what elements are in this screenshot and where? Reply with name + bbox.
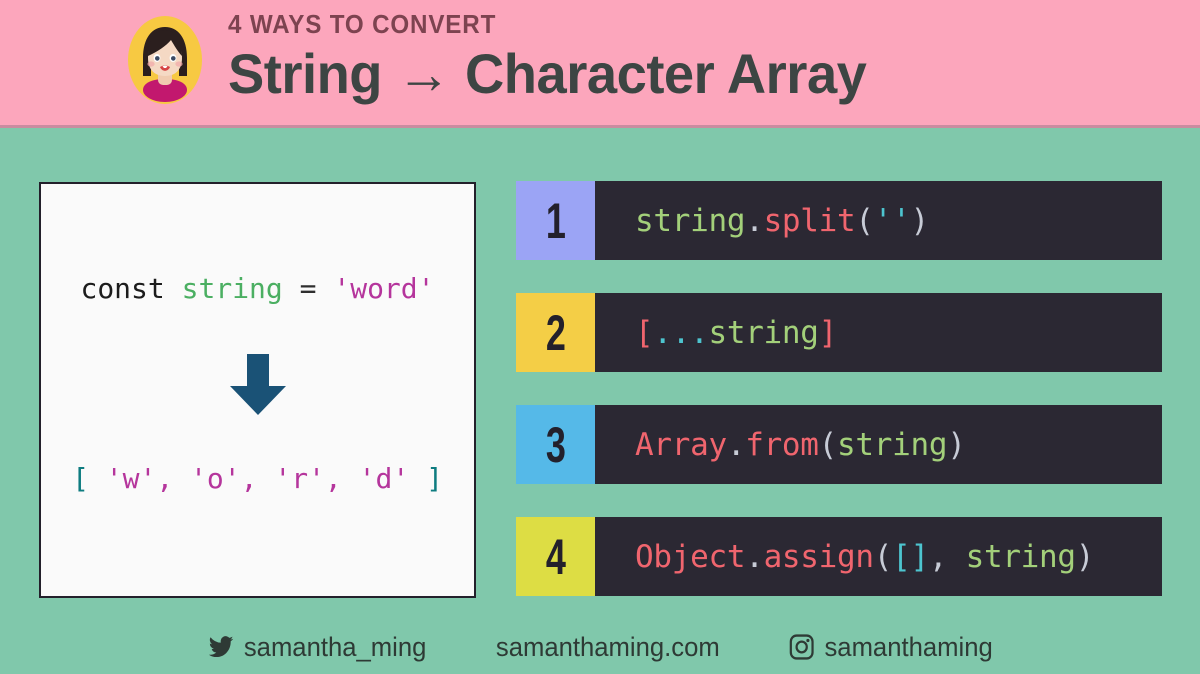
footer-instagram[interactable]: samanthaming: [789, 632, 993, 662]
token-dot: .: [745, 539, 763, 575]
token-from: from: [745, 427, 818, 463]
variable-string: string: [182, 272, 283, 305]
header-kicker: 4 WAYS TO CONVERT: [228, 8, 840, 40]
method-code-3: Array.from(string): [595, 405, 1162, 484]
token-empty-array: []: [892, 539, 929, 575]
header-banner: 4 WAYS TO CONVERT String → Character Arr…: [0, 0, 1200, 125]
result-line: [ 'w', 'o', 'r', 'd' ]: [72, 462, 443, 496]
method-number-4: 4: [545, 531, 565, 583]
token-empty-string: '': [874, 203, 911, 239]
token-object: Object: [635, 539, 745, 575]
token-paren-open: (: [874, 539, 892, 575]
avatar: [126, 14, 204, 106]
keyword-const: const: [80, 272, 164, 305]
method-number-1: 1: [545, 195, 565, 247]
token-spread: ...: [653, 315, 708, 351]
close-bracket: ]: [426, 462, 443, 495]
open-bracket: [: [72, 462, 89, 495]
space: [165, 272, 182, 305]
result-items: 'w', 'o', 'r', 'd': [89, 462, 426, 495]
infographic-canvas: 4 WAYS TO CONVERT String → Character Arr…: [0, 0, 1200, 674]
token-paren-open: (: [819, 427, 837, 463]
method-badge-3: 3: [516, 405, 595, 484]
methods-list: 1 string.split('') 2 [...string] 3 Array…: [516, 181, 1162, 596]
method-badge-2: 2: [516, 293, 595, 372]
token-split: split: [764, 203, 856, 239]
header-text-group: 4 WAYS TO CONVERT String → Character Arr…: [228, 8, 886, 108]
token-dot: .: [745, 203, 763, 239]
token-string: string: [635, 203, 745, 239]
example-panel: const string = 'word' [ 'w', 'o', 'r', '…: [39, 182, 476, 598]
method-block-1[interactable]: 1 string.split(''): [516, 181, 1162, 260]
footer-twitter-label: samantha_ming: [243, 632, 426, 662]
token-array: Array: [635, 427, 727, 463]
token-bracket-open: [: [635, 315, 653, 351]
method-code-2: [...string]: [595, 293, 1162, 372]
down-arrow-icon: [229, 354, 287, 416]
token-string: string: [966, 539, 1076, 575]
declaration-line: const string = 'word': [80, 272, 434, 306]
token-dot: .: [727, 427, 745, 463]
footer-website-label: samanthaming.com: [496, 632, 720, 662]
footer-instagram-label: samanthaming: [825, 632, 993, 662]
token-bracket-close: ]: [819, 315, 837, 351]
footer-twitter[interactable]: samantha_ming: [207, 632, 426, 662]
footer-website[interactable]: samanthaming.com: [496, 632, 720, 662]
token-paren-close: ): [947, 427, 965, 463]
token-string: string: [837, 427, 947, 463]
string-literal-word: 'word': [333, 272, 434, 305]
assignment-operator: =: [283, 272, 334, 305]
twitter-icon: [207, 633, 234, 661]
instagram-icon: [789, 633, 816, 661]
token-comma: ,: [929, 539, 966, 575]
method-block-3[interactable]: 3 Array.from(string): [516, 405, 1162, 484]
method-block-4[interactable]: 4 Object.assign([], string): [516, 517, 1162, 596]
method-number-2: 2: [545, 307, 565, 359]
method-code-4: Object.assign([], string): [595, 517, 1162, 596]
footer: samantha_ming samanthaming.com samantham…: [0, 632, 1200, 662]
method-block-2[interactable]: 2 [...string]: [516, 293, 1162, 372]
page-title: String → Character Array: [228, 40, 866, 108]
method-number-3: 3: [545, 419, 565, 471]
token-paren-close: ): [1076, 539, 1094, 575]
token-paren-close: ): [911, 203, 929, 239]
method-badge-1: 1: [516, 181, 595, 260]
method-badge-4: 4: [516, 517, 595, 596]
token-paren-open: (: [855, 203, 873, 239]
token-string: string: [708, 315, 818, 351]
token-assign: assign: [764, 539, 874, 575]
method-code-1: string.split(''): [595, 181, 1162, 260]
header-divider: [0, 125, 1200, 128]
